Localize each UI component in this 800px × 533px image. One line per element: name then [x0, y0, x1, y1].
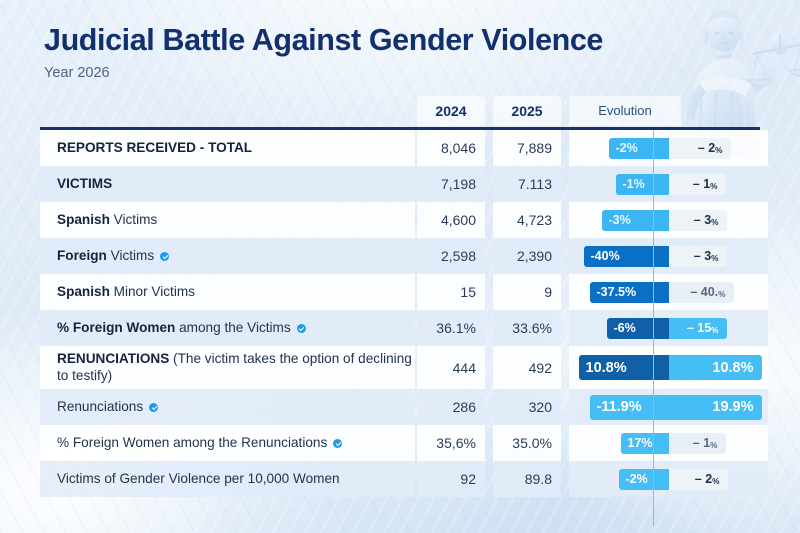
table-row: % Foreign Women among the Renunciations3… [40, 425, 760, 461]
cell-value-2024: 286 [417, 389, 485, 425]
cell-value-2025: 320 [493, 389, 561, 425]
row-label: VICTIMS [40, 166, 415, 202]
info-check-dot-icon[interactable] [160, 252, 169, 261]
evolution-bar-right: – 2% [669, 469, 728, 490]
row-label: RENUNCIATIONS (The victim takes the opti… [40, 346, 415, 389]
row-label-normal: Victims [107, 248, 154, 263]
evolution-bar-right: – 1% [669, 174, 726, 195]
cell-value-2025: 89.8 [493, 461, 561, 497]
percent-sign: % [711, 254, 718, 263]
row-label-strong: % Foreign Women [57, 320, 175, 335]
cell-value-2024: 4,600 [417, 202, 485, 238]
evolution-bar-right: – 3% [669, 246, 727, 267]
info-check-dot-icon[interactable] [149, 403, 158, 412]
evolution-bar-track: 17%– 1% [569, 425, 768, 461]
cell-value-2025: 35.0% [493, 425, 561, 461]
row-label: % Foreign Women among the Victims [40, 310, 415, 346]
percent-sign: % [715, 146, 722, 155]
row-label-strong: VICTIMS [57, 176, 112, 191]
column-header-2025: 2025 [493, 96, 561, 126]
evolution-bar-left: -1% [616, 174, 669, 195]
row-label-strong: REPORTS RECEIVED - TOTAL [57, 140, 252, 155]
evolution-bar-track: -2%– 2% [569, 130, 768, 166]
evolution-bar-left: -37.5% [590, 282, 669, 303]
percent-sign: % [711, 218, 718, 227]
cell-evolution: 17%– 1% [569, 425, 768, 461]
table-row: Spanish Victims4,6004,723-3%– 3% [40, 202, 760, 238]
evolution-bar-track: -37.5%– 40.% [569, 274, 768, 310]
row-label: Spanish Victims [40, 202, 415, 238]
cell-value-2025: 33.6% [493, 310, 561, 346]
percent-sign: % [710, 441, 717, 450]
percent-sign: % [712, 477, 719, 486]
page-title: Judicial Battle Against Gender Violence [44, 24, 603, 56]
info-check-dot-icon[interactable] [297, 324, 306, 333]
evolution-bar-right: 19.9% [669, 395, 762, 420]
evolution-bar-left: -11.9% [590, 395, 669, 420]
cell-evolution: -3%– 3% [569, 202, 768, 238]
table-row: Renunciations286320-11.9%19.9% [40, 389, 760, 425]
evolution-bar-right: – 1% [669, 433, 726, 454]
evolution-bar-left: -40% [584, 246, 669, 267]
cell-value-2025: 2,390 [493, 238, 561, 274]
table-row: Foreign Victims2,5982,390-40%– 3% [40, 238, 760, 274]
cell-evolution: -1%– 1% [569, 166, 768, 202]
row-label: Renunciations [40, 389, 415, 425]
table-column-headers: 2024 2025 Evolution [40, 96, 760, 126]
row-label-normal: Victims [110, 212, 157, 227]
cell-evolution: -37.5%– 40.% [569, 274, 768, 310]
evolution-bar-left: -2% [619, 469, 669, 490]
evolution-bar-track: -6%– 15% [569, 310, 768, 346]
cell-evolution: -2%– 2% [569, 130, 768, 166]
table-row: Spanish Minor Victims159-37.5%– 40.% [40, 274, 760, 310]
page-subtitle-year: Year 2026 [44, 65, 603, 81]
cell-value-2025: 7,889 [493, 130, 561, 166]
cell-value-2024: 92 [417, 461, 485, 497]
cell-value-2024: 7,198 [417, 166, 485, 202]
evolution-bar-right: – 2% [669, 138, 731, 159]
table-row: REPORTS RECEIVED - TOTAL8,0467,889-2%– 2… [40, 130, 760, 166]
cell-value-2024: 2,598 [417, 238, 485, 274]
percent-sign: % [710, 182, 717, 191]
evolution-bar-track: -40%– 3% [569, 238, 768, 274]
cell-value-2024: 36.1% [417, 310, 485, 346]
cell-value-2025: 9 [493, 274, 561, 310]
evolution-bar-track: -1%– 1% [569, 166, 768, 202]
evolution-bar-track: 10.8%10.8% [569, 346, 768, 389]
column-header-2024: 2024 [417, 96, 485, 126]
row-label: REPORTS RECEIVED - TOTAL [40, 130, 415, 166]
row-label: Foreign Victims [40, 238, 415, 274]
header: Judicial Battle Against Gender Violence … [44, 24, 603, 81]
evolution-bar-right: – 40.% [669, 282, 734, 303]
cell-value-2024: 444 [417, 346, 485, 389]
cell-evolution: 10.8%10.8% [569, 346, 768, 389]
cell-evolution: -2%– 2% [569, 461, 768, 497]
table-row: Victims of Gender Violence per 10,000 Wo… [40, 461, 760, 497]
row-label-strong: RENUNCIATIONS [57, 351, 169, 366]
cell-evolution: -11.9%19.9% [569, 389, 768, 425]
row-label-strong: Spanish [57, 284, 110, 299]
row-label-normal: Victims of Gender Violence per 10,000 Wo… [57, 471, 340, 486]
row-label-normal: among the Victims [175, 320, 290, 335]
row-label-normal: Renunciations [57, 399, 143, 414]
evolution-bar-left: -3% [602, 210, 669, 231]
evolution-bar-left: -2% [609, 138, 669, 159]
evolution-bar-left: 10.8% [579, 355, 669, 380]
statistics-table: 2024 2025 Evolution REPORTS RECEIVED - T… [40, 96, 760, 497]
column-header-evolution: Evolution [569, 96, 681, 126]
table-row: % Foreign Women among the Victims36.1%33… [40, 310, 760, 346]
cell-value-2024: 8,046 [417, 130, 485, 166]
cell-evolution: -40%– 3% [569, 238, 768, 274]
row-label-normal: % Foreign Women among the Renunciations [57, 435, 327, 450]
evolution-bar-right: – 15% [669, 318, 727, 339]
evolution-bar-left: 17% [621, 433, 669, 454]
row-label-strong: Foreign [57, 248, 107, 263]
row-label-strong: Spanish [57, 212, 110, 227]
percent-sign: % [718, 290, 725, 299]
cell-value-2024: 15 [417, 274, 485, 310]
evolution-bar-track: -3%– 3% [569, 202, 768, 238]
table-body: REPORTS RECEIVED - TOTAL8,0467,889-2%– 2… [40, 130, 760, 497]
table-row: RENUNCIATIONS (The victim takes the opti… [40, 346, 760, 389]
cell-value-2025: 7.113 [493, 166, 561, 202]
evolution-bar-track: -2%– 2% [569, 461, 768, 497]
evolution-bar-right: 10.8% [669, 355, 762, 380]
info-check-dot-icon[interactable] [333, 439, 342, 448]
evolution-bar-left: -6% [607, 318, 669, 339]
evolution-bar-track: -11.9%19.9% [569, 389, 768, 425]
cell-evolution: -6%– 15% [569, 310, 768, 346]
cell-value-2025: 4,723 [493, 202, 561, 238]
row-label: Spanish Minor Victims [40, 274, 415, 310]
percent-sign: % [711, 326, 718, 335]
row-label: % Foreign Women among the Renunciations [40, 425, 415, 461]
cell-value-2025: 492 [493, 346, 561, 389]
table-row: VICTIMS7,1987.113-1%– 1% [40, 166, 760, 202]
evolution-bar-right: – 3% [669, 210, 727, 231]
row-label-normal: Minor Victims [110, 284, 195, 299]
row-label: Victims of Gender Violence per 10,000 Wo… [40, 461, 415, 497]
cell-value-2024: 35,6% [417, 425, 485, 461]
